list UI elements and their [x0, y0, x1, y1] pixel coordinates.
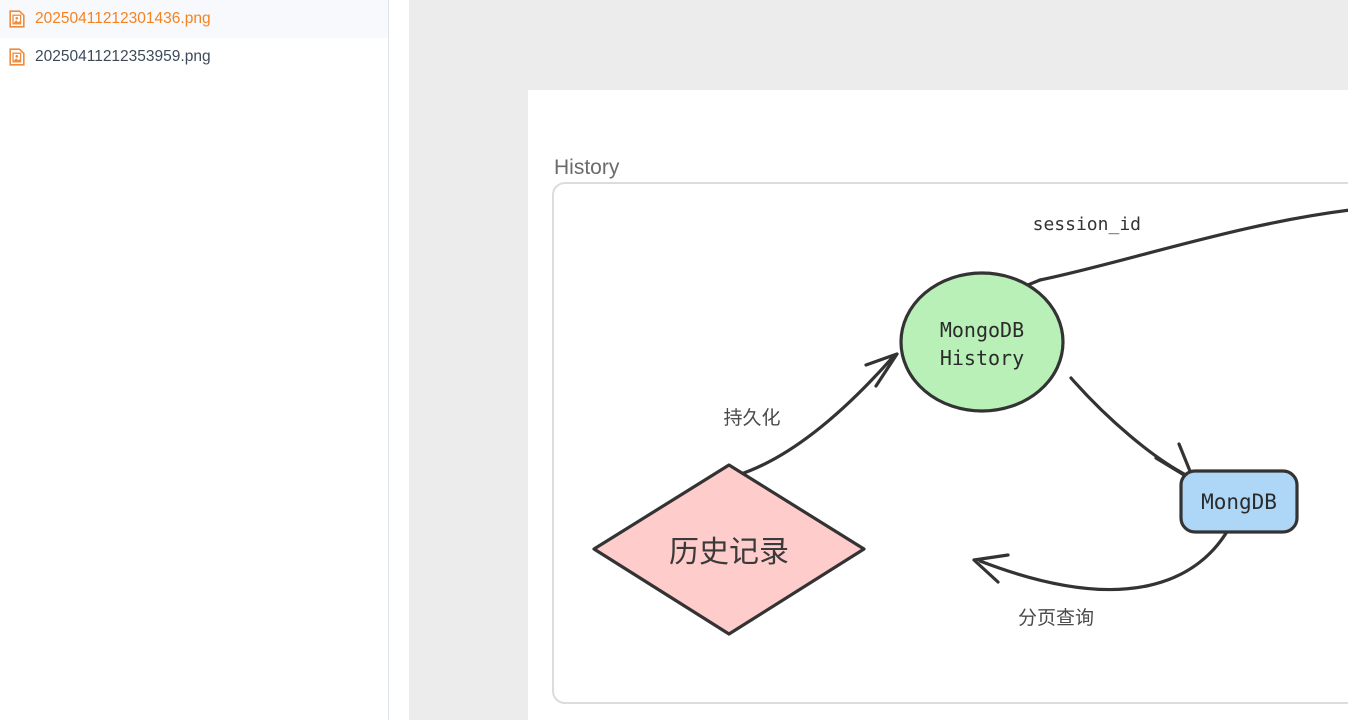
file-list-item-label: 20250411212301436.png: [35, 11, 211, 27]
node-mongodb-history[interactable]: MongoDB History: [901, 273, 1063, 411]
subgraph-title: History: [554, 156, 620, 179]
image-file-icon: [9, 48, 25, 66]
diagram-paper: History 持久化 session_id: [528, 90, 1348, 720]
sidebar-viewer-gap: [389, 0, 409, 720]
app-root: 20250411212301436.png 20250411212353959.…: [0, 0, 1348, 720]
file-list-item-1[interactable]: 20250411212353959.png: [0, 38, 388, 76]
file-list-sidebar: 20250411212301436.png 20250411212353959.…: [0, 0, 389, 720]
subgraph-container: [553, 183, 1348, 703]
edge-persist-label: 持久化: [723, 407, 780, 429]
image-viewer-area[interactable]: History 持久化 session_id: [409, 0, 1348, 720]
file-list-item-0[interactable]: 20250411212301436.png: [0, 0, 388, 38]
node-mongodb-history-label-line1: MongoDB: [940, 318, 1024, 342]
mermaid-diagram: History 持久化 session_id: [528, 90, 1348, 720]
edge-paged-query-label: 分页查询: [1018, 607, 1094, 629]
node-mongodb-history-shape[interactable]: [901, 273, 1063, 411]
file-list-item-label: 20250411212353959.png: [35, 49, 211, 65]
node-mongodb-history-label-line2: History: [940, 346, 1024, 370]
node-history-record-label: 历史记录: [669, 536, 789, 569]
edge-session-id-label: session_id: [1033, 214, 1141, 235]
image-file-icon: [9, 10, 25, 28]
node-mongdb[interactable]: MongDB: [1181, 471, 1297, 532]
node-mongdb-label: MongDB: [1201, 490, 1277, 514]
